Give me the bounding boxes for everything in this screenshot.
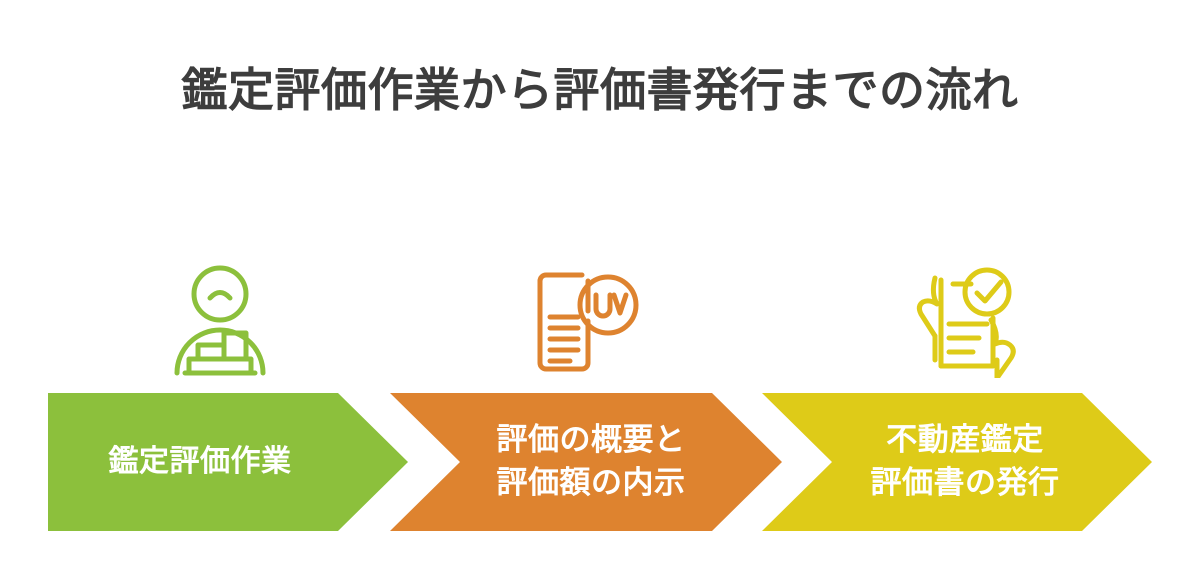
document-with-magnifier-icon <box>530 265 642 375</box>
step-3-label: 不動産鑑定 評価書の発行 <box>871 419 1060 505</box>
step-2-label: 評価の概要と 評価額の内示 <box>497 419 686 505</box>
step-3-arrow[interactable]: 不動産鑑定 評価書の発行 <box>762 393 1152 531</box>
process-flow-slide: 鑑定評価作業から評価書発行までの流れ <box>0 0 1200 588</box>
step-3-icon-cell <box>893 255 1033 385</box>
step-1-icon-cell <box>150 255 290 385</box>
hands-holding-approved-document-icon <box>905 262 1021 378</box>
icon-row <box>48 255 1152 385</box>
person-at-desk-icon <box>165 261 275 379</box>
step-2-icon-cell <box>516 255 656 385</box>
process-arrow-band: 鑑定評価作業 評価の概要と 評価額の内示 不動産鑑定 評価書の発行 <box>0 393 1200 531</box>
step-2-arrow[interactable]: 評価の概要と 評価額の内示 <box>390 393 782 531</box>
page-title: 鑑定評価作業から評価書発行までの流れ <box>0 62 1200 120</box>
step-1-arrow[interactable]: 鑑定評価作業 <box>48 393 408 531</box>
step-1-label: 鑑定評価作業 <box>109 441 292 482</box>
